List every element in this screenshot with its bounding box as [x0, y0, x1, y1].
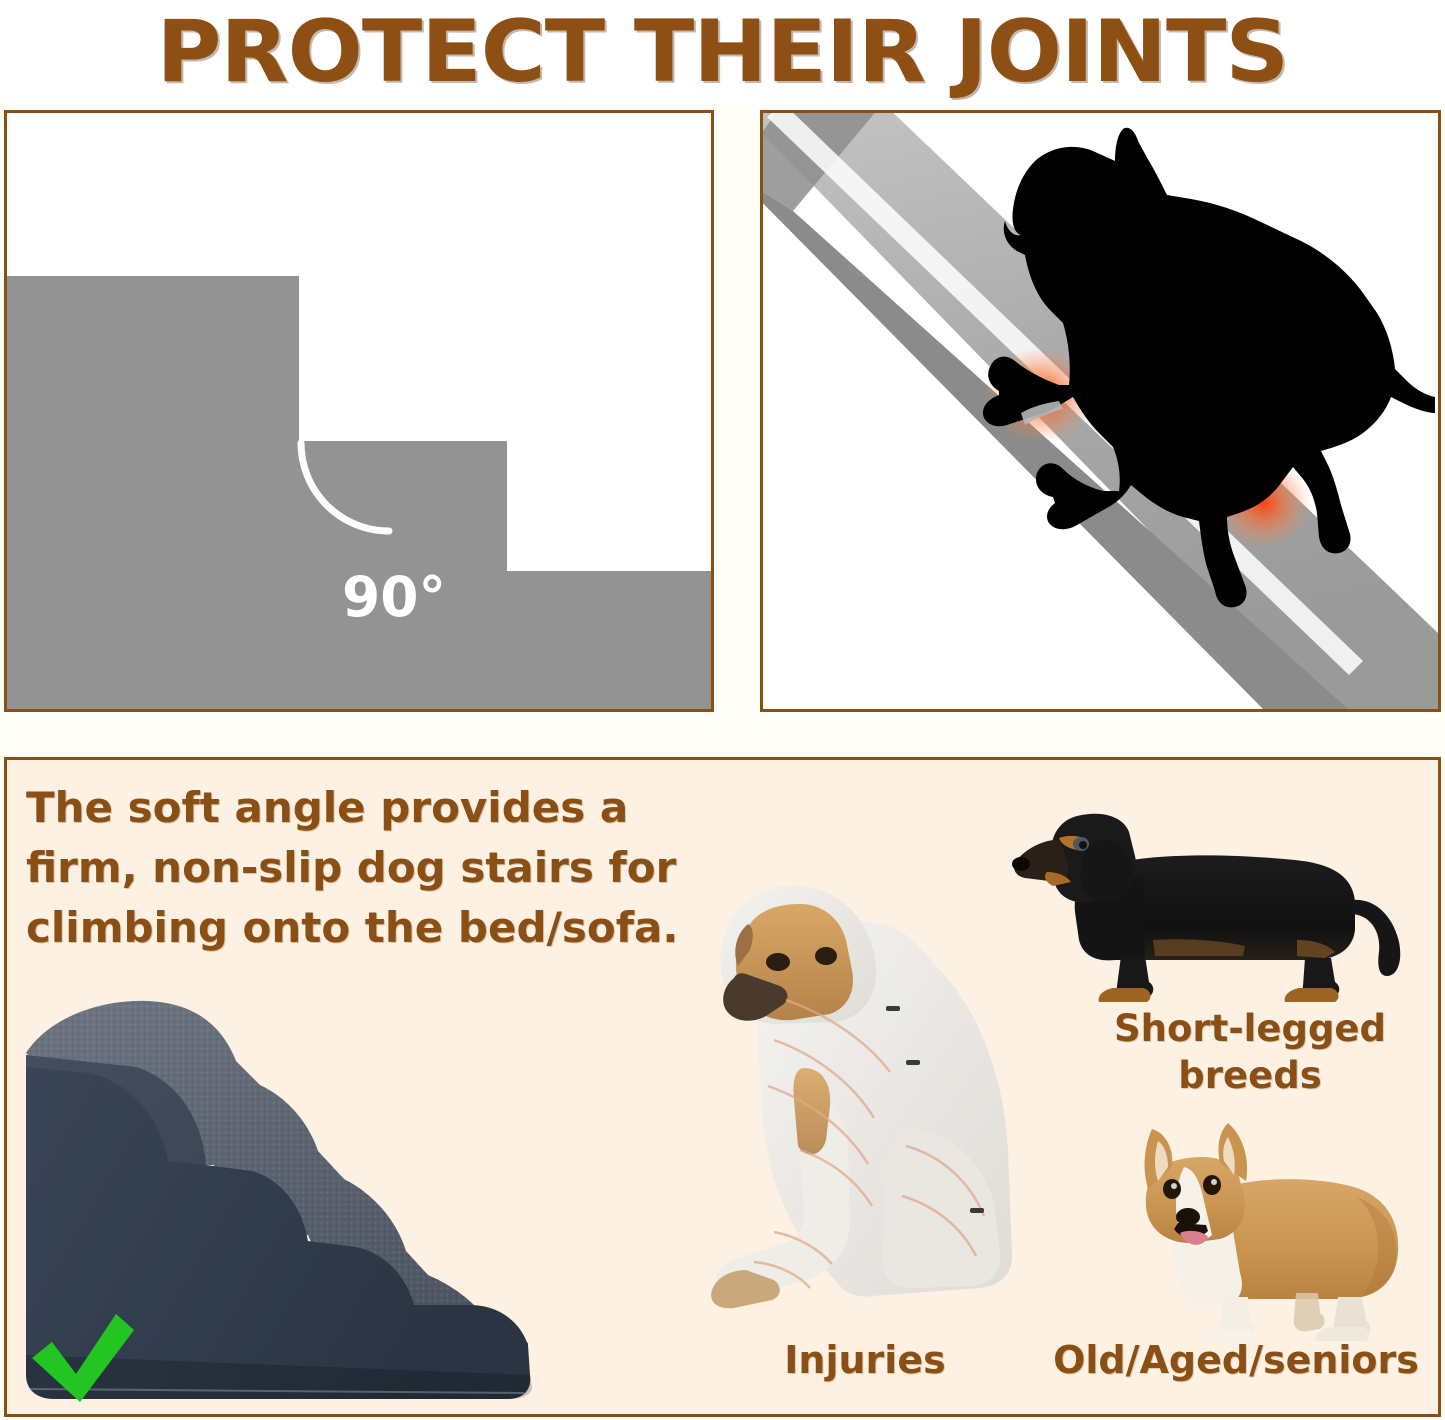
page-title: PROTECT THEIR JOINTS [157, 9, 1289, 95]
infographic-page: PROTECT THEIR JOINTS 90° Difficulty of c… [0, 0, 1445, 1420]
slippery-ramp-diagram [763, 113, 1438, 709]
solution-heading: The soft angle provides a firm, non-slip… [26, 778, 726, 958]
panel-difficulty-of-climbing: 90° Difficulty of climbing [4, 110, 714, 712]
angle-label: 90° [342, 570, 446, 625]
figure-corgi [1100, 1105, 1430, 1350]
figure-injured-dog [650, 800, 1055, 1330]
caption-old-aged-seniors: Old/Aged/seniors [1030, 1338, 1442, 1382]
caption-short-legged-breeds: Short-legged breeds [1060, 1005, 1440, 1099]
panel-slippery-easy-to-fall: Slippery, easy to fall [760, 110, 1441, 712]
figure-dachshund [1005, 780, 1425, 1010]
page-title-bar: PROTECT THEIR JOINTS [0, 0, 1445, 104]
green-check-icon [28, 1308, 138, 1406]
caption-injuries: Injuries [700, 1338, 1030, 1382]
